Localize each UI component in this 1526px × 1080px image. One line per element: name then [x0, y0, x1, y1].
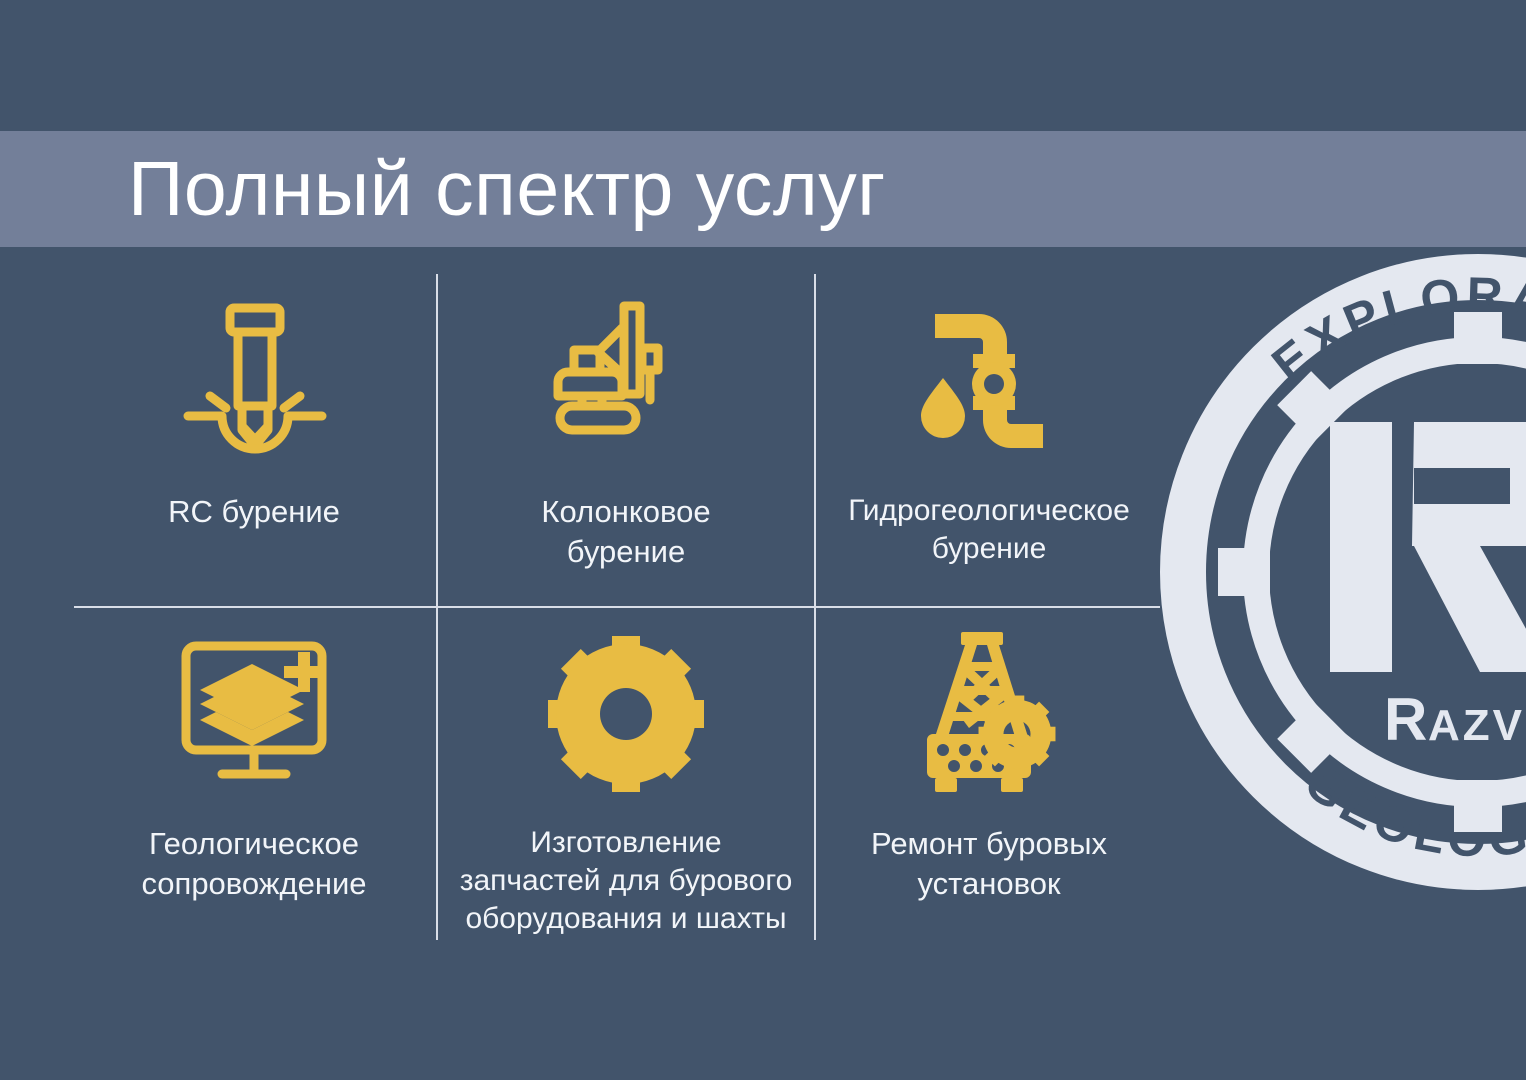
- geo-layers-monitor-icon: [164, 614, 344, 814]
- svg-text:EXPLORATION: EXPLORATION: [1262, 267, 1526, 393]
- service-label: Геологическое сопровождение: [141, 824, 366, 903]
- service-label: RC бурение: [168, 492, 340, 532]
- service-item-geo-support[interactable]: Геологическое сопровождение: [74, 614, 434, 903]
- drill-rig-crawler-icon: [536, 282, 716, 482]
- page-title: Полный спектр услуг: [128, 151, 886, 228]
- svg-text:GEOLOGICAL: GEOLOGICAL: [1294, 753, 1526, 867]
- grid-divider-horizontal-1: [74, 606, 1160, 608]
- service-item-spare-parts[interactable]: Изготовление запчастей для бурового обор…: [440, 614, 812, 938]
- service-item-core-drilling[interactable]: Колонковое бурение: [440, 282, 812, 571]
- drill-bit-icon: [164, 282, 344, 482]
- derrick-gear-icon: [899, 614, 1079, 814]
- service-label: Изготовление запчастей для бурового обор…: [460, 824, 793, 938]
- service-label: Ремонт буровых установок: [871, 824, 1107, 903]
- service-label: Гидрогеологическое бурение: [848, 492, 1130, 569]
- gear-icon: [536, 614, 716, 814]
- service-item-rig-repair[interactable]: Ремонт буровых установок: [818, 614, 1160, 903]
- water-pipe-drop-icon: [899, 282, 1079, 482]
- logo-wordmark: R AZVEDKA: [1384, 686, 1526, 753]
- company-logo-watermark: EXPLORATION GEOLOGICAL: [1158, 252, 1526, 892]
- service-label: Колонковое бурение: [541, 492, 710, 571]
- service-item-rc-drilling[interactable]: RC бурение: [74, 282, 434, 532]
- logo-cog-teeth: [1218, 312, 1526, 832]
- logo-ring-text: EXPLORATION GEOLOGICAL: [1262, 267, 1526, 868]
- title-band: Полный спектр услуг: [0, 131, 1526, 247]
- logo-outer-ring: [1183, 277, 1526, 867]
- logo-cog-ring: [1256, 350, 1526, 794]
- svg-text:AZVEDKA: AZVEDKA: [1428, 701, 1526, 750]
- service-item-hydro-drilling[interactable]: Гидрогеологическое бурение: [818, 282, 1160, 569]
- logo-monogram-r: [1330, 422, 1526, 672]
- svg-text:R: R: [1384, 686, 1427, 753]
